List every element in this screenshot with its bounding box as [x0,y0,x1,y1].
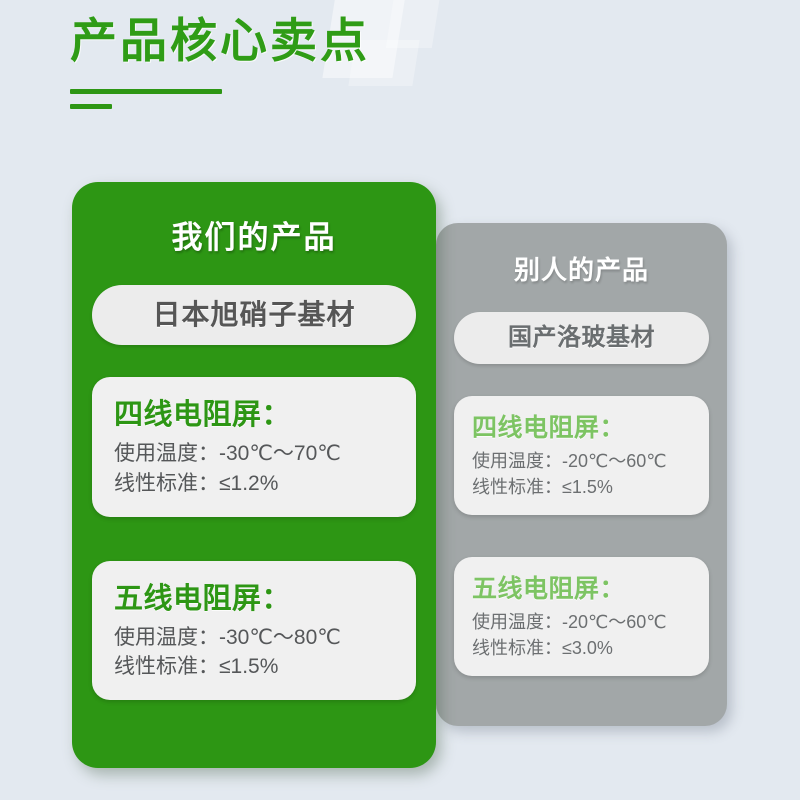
our-spec-title-5wire: 五线电阻屏： [114,575,416,617]
page-header: 产品核心卖点 [70,12,370,71]
page-title: 产品核心卖点 [70,12,370,71]
competitor-spec-temperature-5wire: 使用温度：-20℃～60℃ [472,610,709,636]
competitor-spec-box-5wire: 五线电阻屏： 使用温度：-20℃～60℃ 线性标准：≤3.0% [454,557,709,676]
title-underline-long [70,89,222,94]
competitor-spec-linearity-4wire: 线性标准：≤1.5% [472,475,709,501]
competitor-spec-box-4wire: 四线电阻屏： 使用温度：-20℃～60℃ 线性标准：≤1.5% [454,396,709,515]
our-card-heading: 我们的产品 [92,182,416,257]
competitor-substrate-pill: 国产洛玻基材 [454,312,709,364]
competitor-spec-title-4wire: 四线电阻屏： [472,408,709,444]
competitor-spec-linearity-5wire: 线性标准：≤3.0% [472,636,709,662]
competitor-spec-temperature-4wire: 使用温度：-20℃～60℃ [472,449,709,475]
competitor-spec-title-5wire: 五线电阻屏： [472,569,709,605]
our-spec-box-4wire: 四线电阻屏： 使用温度：-30℃～70℃ 线性标准：≤1.2% [92,377,416,517]
title-underline-short [70,104,112,109]
our-substrate-pill: 日本旭硝子基材 [92,285,416,345]
our-product-card: 我们的产品 日本旭硝子基材 四线电阻屏： 使用温度：-30℃～70℃ 线性标准：… [72,182,436,768]
our-spec-temperature-4wire: 使用温度：-30℃～70℃ [114,439,416,469]
background-decoration-shape-2 [386,0,444,48]
our-spec-title-4wire: 四线电阻屏： [114,391,416,433]
our-spec-box-5wire: 五线电阻屏： 使用温度：-30℃～80℃ 线性标准：≤1.5% [92,561,416,701]
our-spec-linearity-5wire: 线性标准：≤1.5% [114,652,416,682]
our-spec-linearity-4wire: 线性标准：≤1.2% [114,469,416,499]
competitor-card-heading: 别人的产品 [454,223,709,287]
our-spec-temperature-5wire: 使用温度：-30℃～80℃ [114,623,416,653]
competitor-product-card: 别人的产品 国产洛玻基材 四线电阻屏： 使用温度：-20℃～60℃ 线性标准：≤… [436,223,727,726]
